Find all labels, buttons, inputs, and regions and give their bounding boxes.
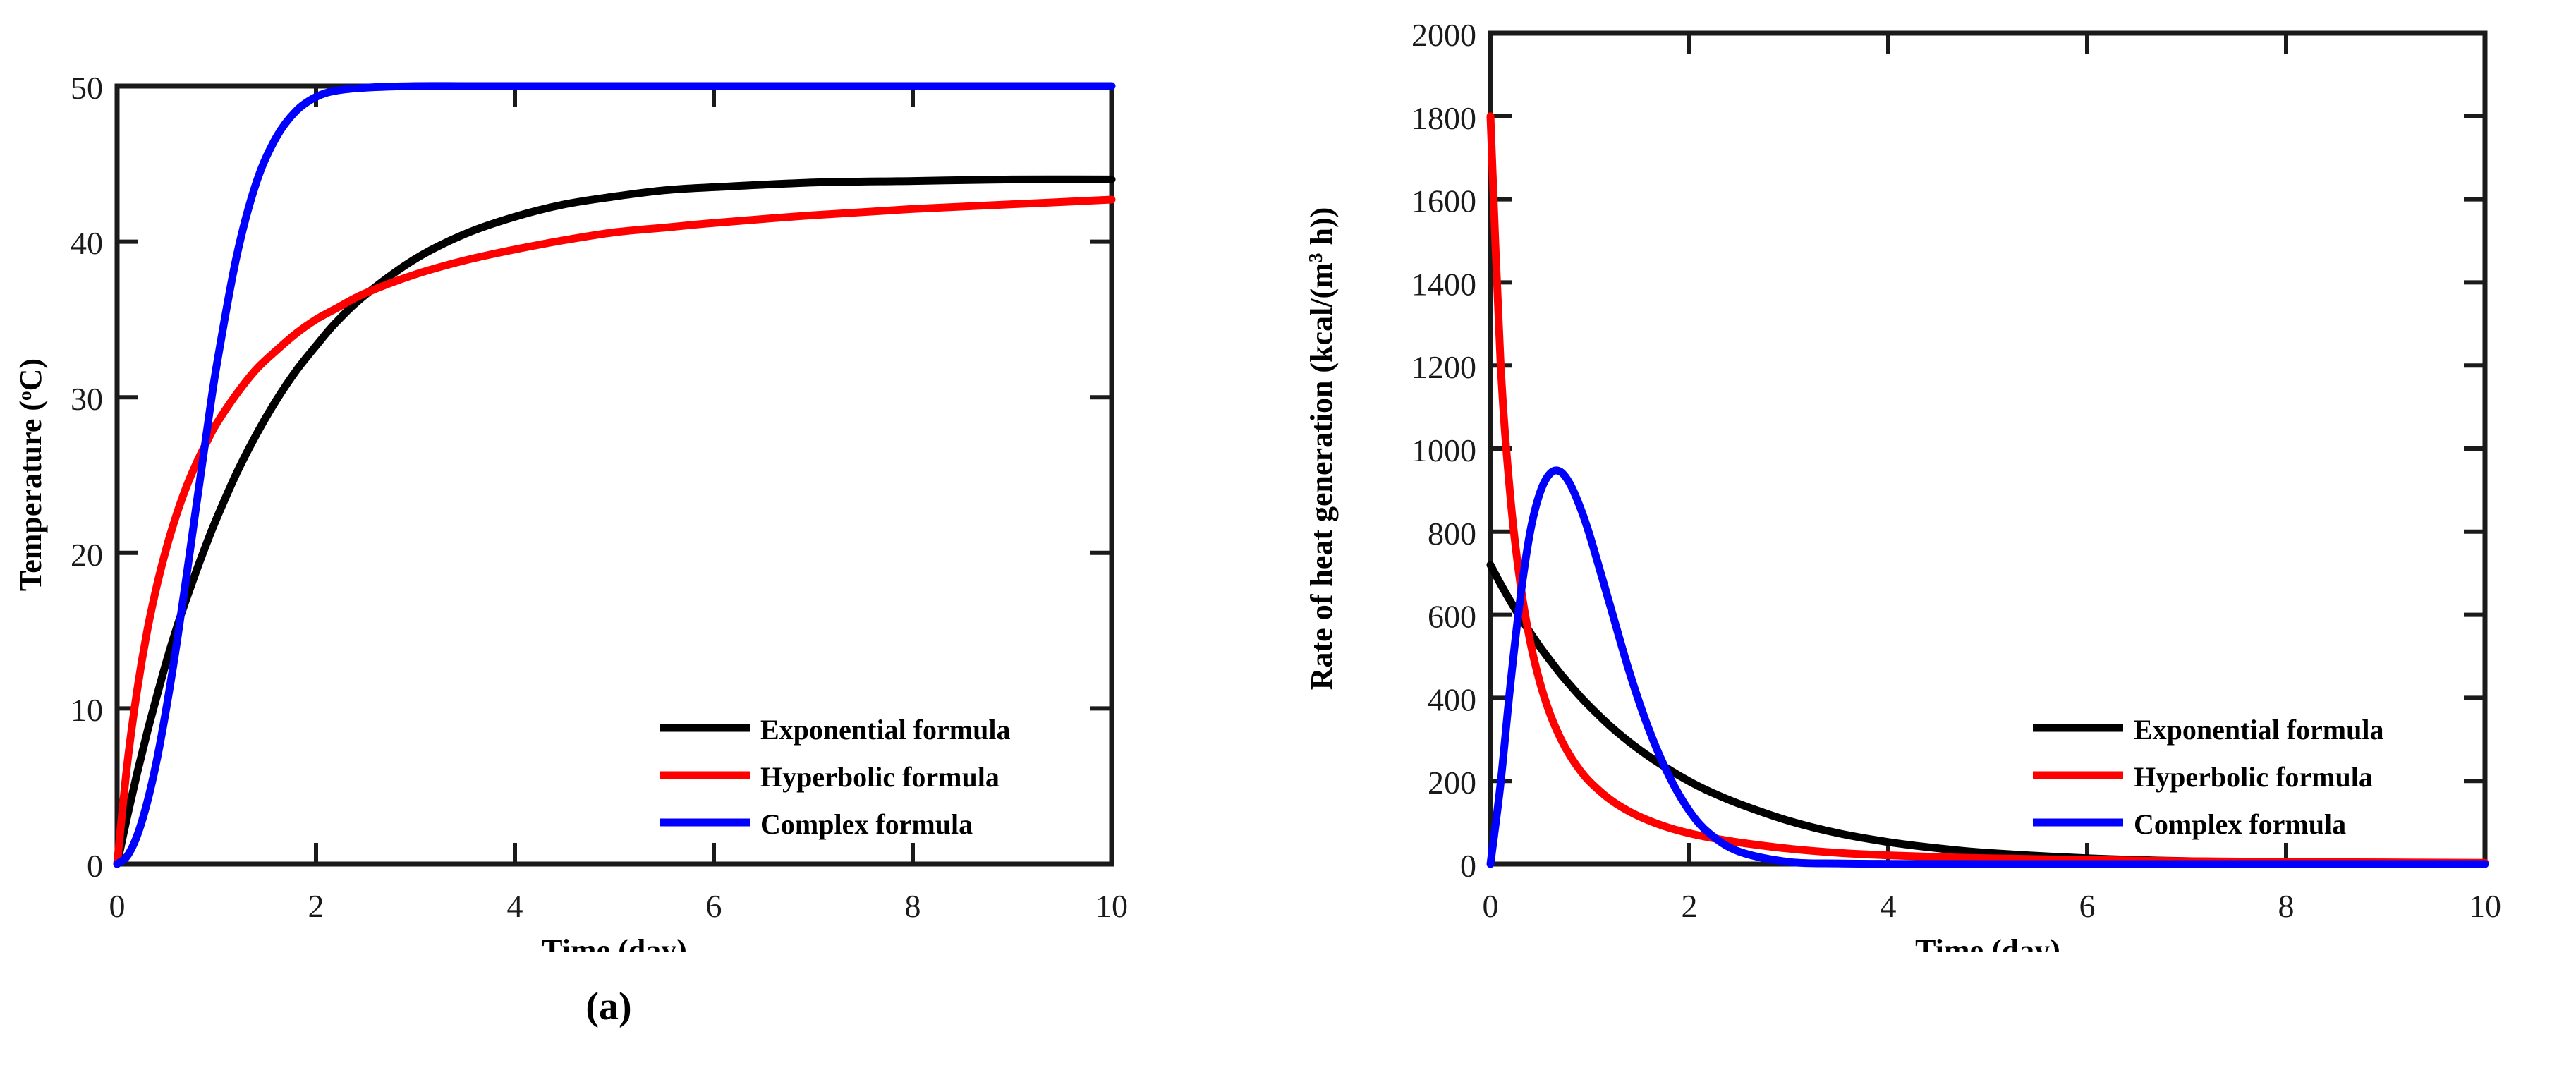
figure-container: 50 40 30 20 10 0 0 2 4 6 8 10 Time (day)… — [0, 0, 2576, 1070]
y-tick-label: 10 — [71, 692, 103, 728]
y-axis-title-tail: C) — [13, 358, 48, 391]
y-tick-label: 0 — [1460, 848, 1476, 884]
y-tick-label: 30 — [71, 381, 103, 417]
x-tick-label: 6 — [706, 888, 722, 924]
x-tick-label: 4 — [507, 888, 523, 924]
y-axis-title-superscript: o — [14, 391, 35, 401]
x-tick-label: 10 — [2469, 888, 2501, 924]
panel-b-x-axis-title: Time (day) — [1915, 933, 2060, 952]
panel-a-y-axis-title: Temperature (oC) — [13, 358, 48, 591]
x-tick-label: 2 — [1682, 888, 1698, 924]
panel-b: 2000 1800 1600 1400 1200 1000 800 600 40… — [1288, 0, 2576, 1070]
x-tick-label: 2 — [308, 888, 324, 924]
x-tick-label: 6 — [2079, 888, 2096, 924]
y-tick-label: 1800 — [1411, 100, 1476, 136]
panel-a: 50 40 30 20 10 0 0 2 4 6 8 10 Time (day)… — [0, 0, 1288, 1070]
y-tick-label: 20 — [71, 537, 103, 573]
y-tick-label: 1200 — [1411, 349, 1476, 385]
y-tick-label: 50 — [71, 70, 103, 106]
y-tick-label: 600 — [1428, 599, 1476, 635]
x-tick-label: 0 — [1483, 888, 1499, 924]
x-tick-label: 0 — [109, 888, 126, 924]
panel-a-plot: 50 40 30 20 10 0 0 2 4 6 8 10 Time (day)… — [0, 0, 1288, 952]
panel-a-caption: (a) — [503, 984, 715, 1029]
panel-a-x-tick-labels: 0 2 4 6 8 10 — [109, 888, 1129, 924]
panel-a-y-tick-labels: 50 40 30 20 10 0 — [71, 70, 103, 884]
legend-label-complex-formula: Complex formula — [760, 808, 973, 840]
x-tick-label: 10 — [1095, 888, 1128, 924]
y-axis-title-part1: Rate of heat generation (kcal/(m — [1304, 262, 1339, 690]
y-tick-label: 200 — [1428, 765, 1476, 801]
y-axis-title-main: Temperature ( — [13, 401, 48, 591]
panel-b-plot: 2000 1800 1600 1400 1200 1000 800 600 40… — [1288, 0, 2576, 952]
y-tick-label: 1600 — [1411, 183, 1476, 219]
y-axis-title-part2: h)) — [1304, 207, 1339, 253]
y-tick-label: 1400 — [1411, 266, 1476, 302]
y-tick-label: 1000 — [1411, 432, 1476, 468]
legend-label-hyperbolic-formula: Hyperbolic formula — [2134, 761, 2373, 793]
y-tick-label: 800 — [1428, 516, 1476, 552]
y-axis-title-superscript: 3 — [1305, 253, 1326, 263]
y-tick-label: 2000 — [1411, 17, 1476, 53]
x-tick-label: 8 — [905, 888, 921, 924]
y-tick-label: 40 — [71, 225, 103, 261]
panel-a-x-axis-title: Time (day) — [542, 933, 687, 952]
legend-label-hyperbolic-formula: Hyperbolic formula — [760, 761, 1000, 793]
panel-b-x-tick-labels: 0 2 4 6 8 10 — [1483, 888, 2502, 924]
panel-b-y-tick-labels: 2000 1800 1600 1400 1200 1000 800 600 40… — [1411, 17, 1476, 884]
legend-label-exponential-formula: Exponential formula — [760, 714, 1010, 746]
y-tick-label: 400 — [1428, 681, 1476, 717]
panel-b-y-axis-title: Rate of heat generation (kcal/(m3 h)) — [1304, 207, 1339, 691]
x-tick-label: 8 — [2278, 888, 2295, 924]
legend-label-complex-formula: Complex formula — [2134, 808, 2346, 840]
x-tick-label: 4 — [1881, 888, 1897, 924]
legend-label-exponential-formula: Exponential formula — [2134, 714, 2383, 746]
y-tick-label: 0 — [87, 848, 103, 884]
